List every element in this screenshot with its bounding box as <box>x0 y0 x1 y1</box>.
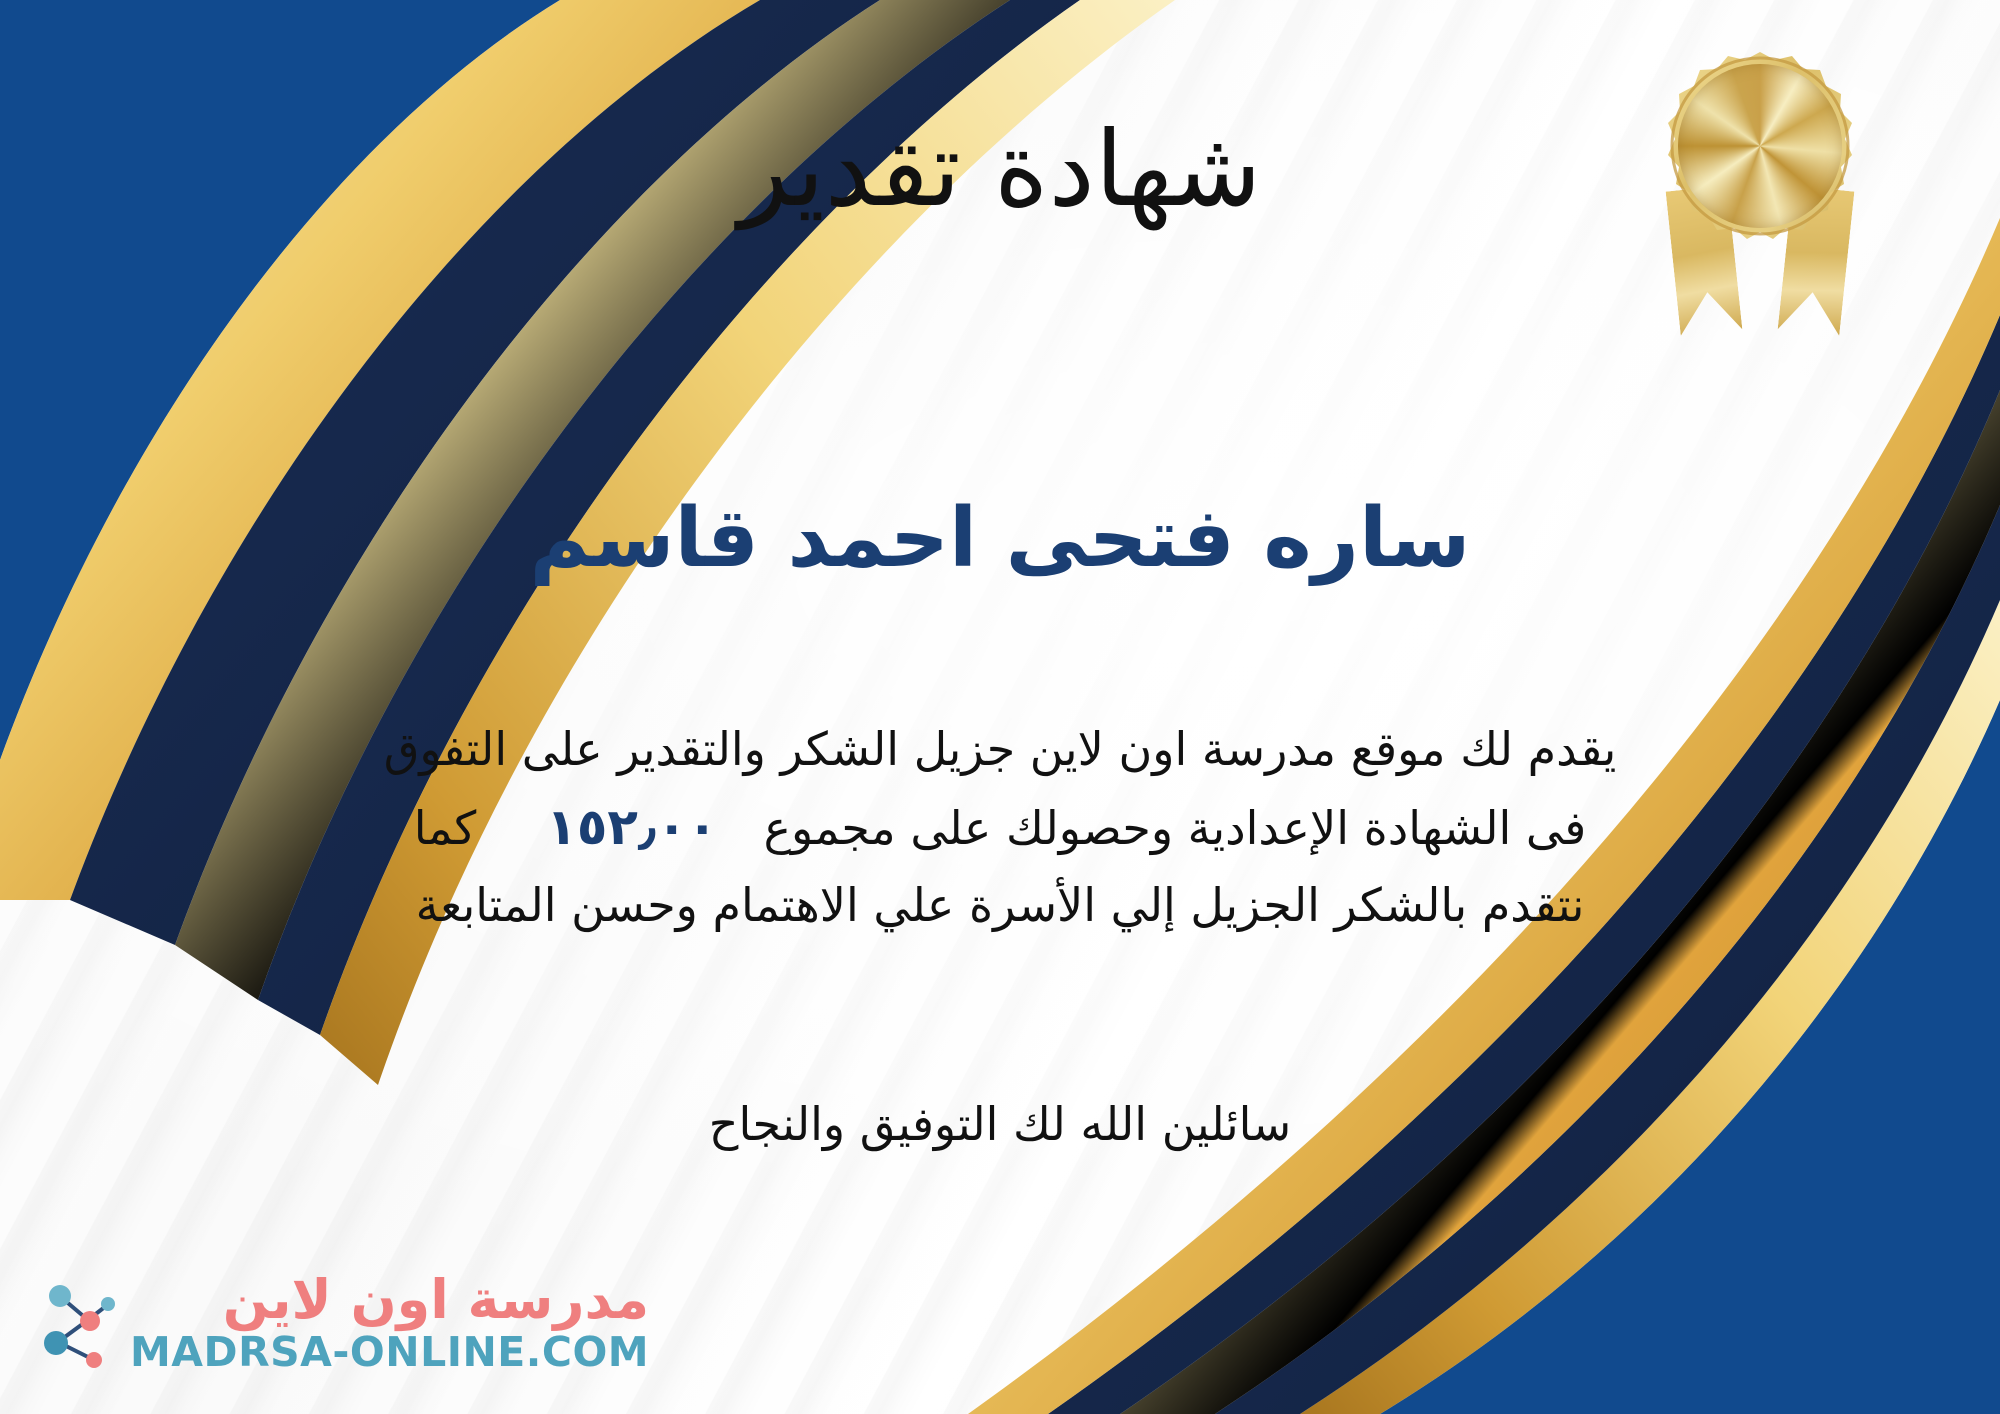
body-line-3: نتقدم بالشكر الجزيل إلي الأسرة علي الاهت… <box>60 868 1940 943</box>
logo-domain: MADRSA-ONLINE.COM <box>130 1329 649 1376</box>
recipient-name: ساره فتحى احمد قاسم <box>0 490 2000 588</box>
body-line-2: فى الشهادة الإعدادية وحصولك على مجموع١٥٢… <box>60 787 1940 868</box>
logo-arabic-name: مدرسة اون لاين <box>223 1272 649 1329</box>
body-line-2-prefix: فى الشهادة الإعدادية وحصولك على مجموع <box>764 801 1587 855</box>
certificate-body: يقدم لك موقع مدرسة اون لاين جزيل الشكر و… <box>60 712 1940 942</box>
certificate-page: شهادة تقدير ساره فتحى احمد قاسم يقدم لك … <box>0 0 2000 1414</box>
closing-wish: سائلين الله لك التوفيق والنجاح <box>0 1090 2000 1159</box>
body-line-1: يقدم لك موقع مدرسة اون لاين جزيل الشكر و… <box>60 712 1940 787</box>
network-nodes-icon <box>28 1276 120 1372</box>
logo-text-block: مدرسة اون لاين MADRSA-ONLINE.COM <box>130 1272 649 1376</box>
site-logo[interactable]: مدرسة اون لاين MADRSA-ONLINE.COM <box>28 1272 649 1376</box>
page-title: شهادة تقدير <box>0 110 2000 230</box>
body-line-2-suffix: كما <box>414 801 477 855</box>
total-score-value: ١٥٢٫٠٠ <box>476 798 763 856</box>
